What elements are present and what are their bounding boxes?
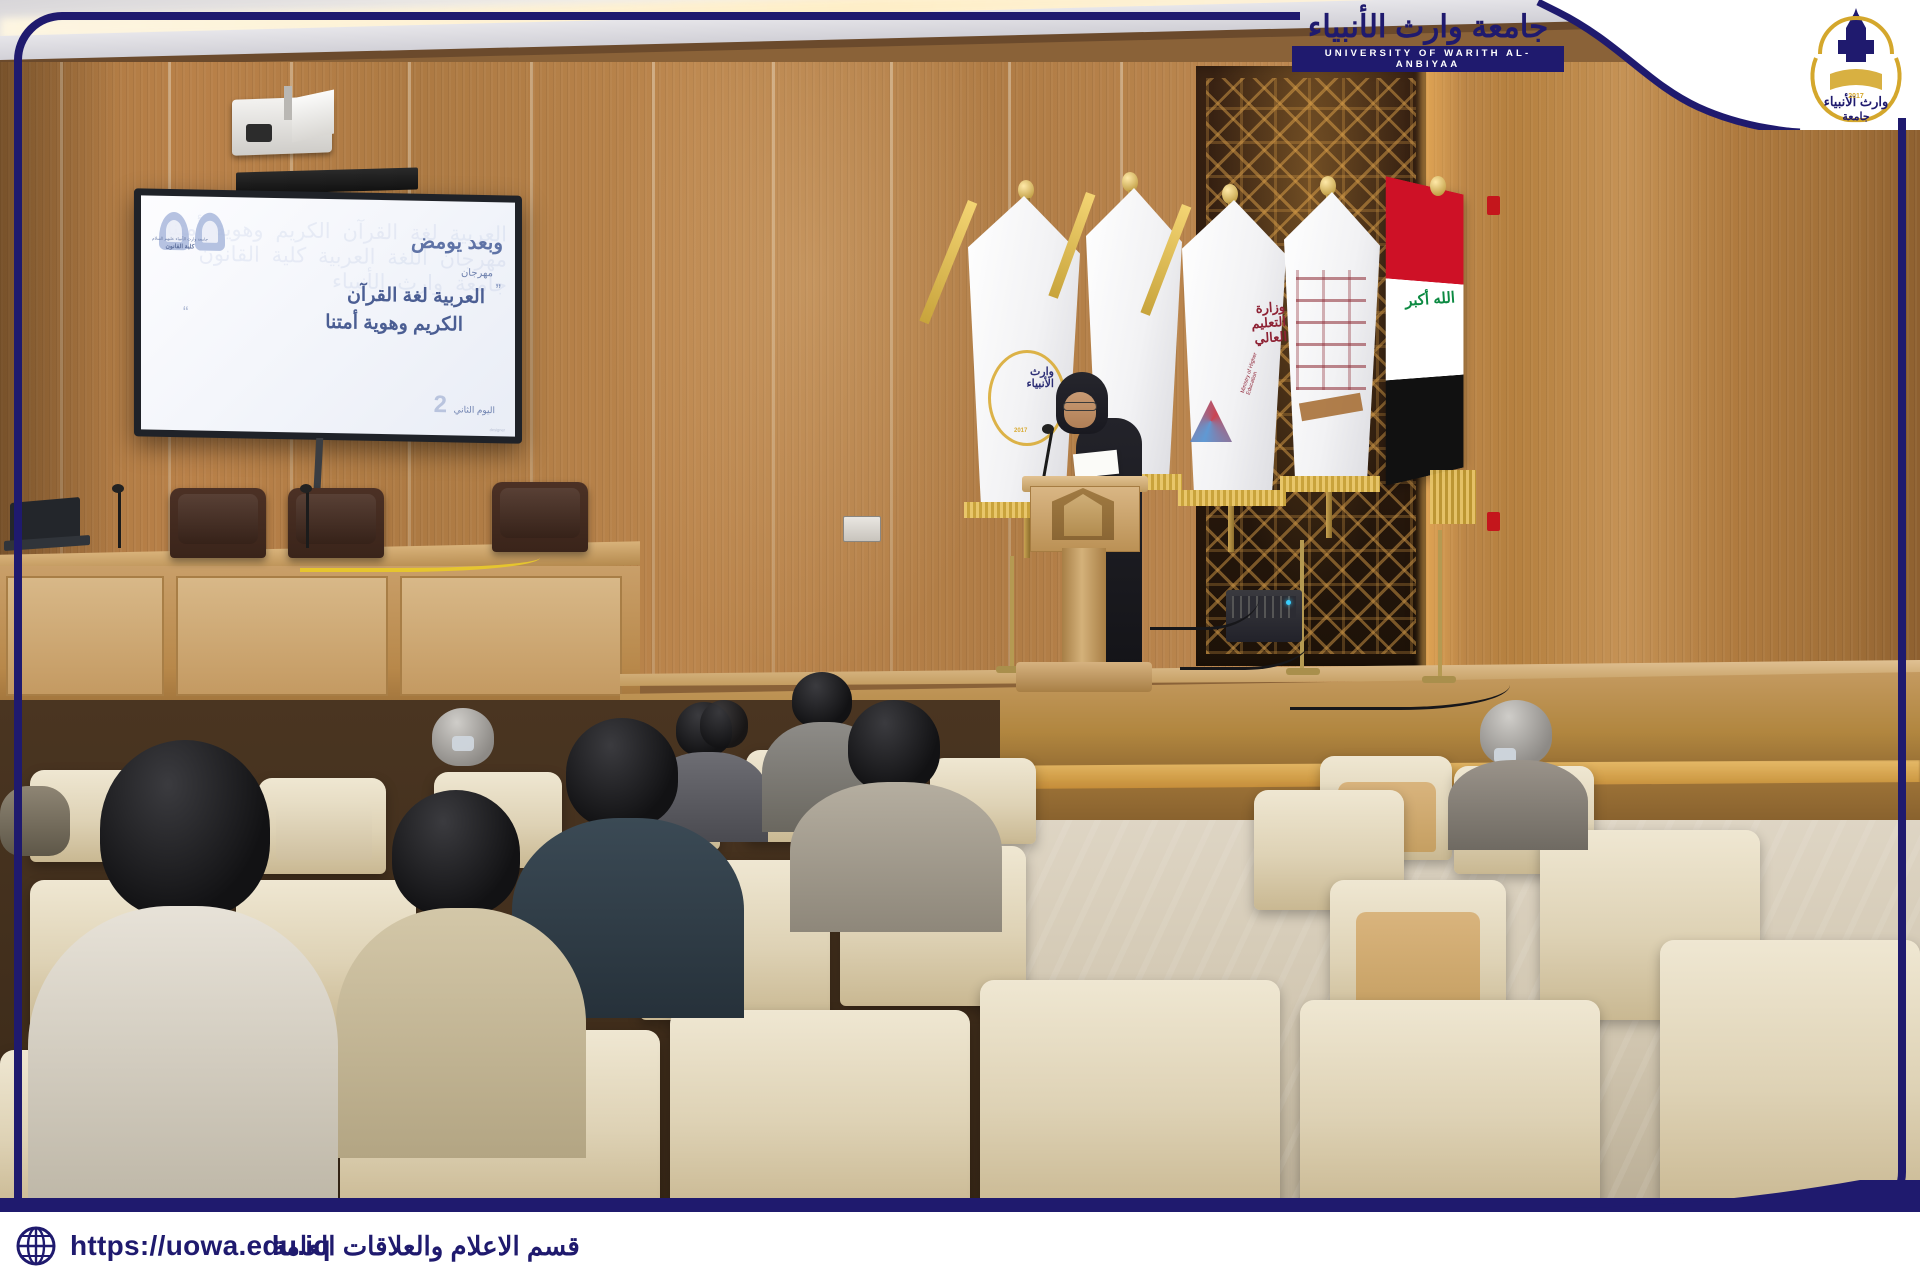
audience-person-head xyxy=(0,786,70,856)
slide-day-number: 2 xyxy=(434,391,447,419)
auditorium-seat xyxy=(670,1010,970,1212)
audio-mixer-led-icon xyxy=(1286,600,1291,605)
panel-table-front-panel xyxy=(6,576,164,696)
audience-person-head xyxy=(392,790,520,916)
audience-person-head xyxy=(566,718,678,828)
flag-finial xyxy=(1122,172,1138,192)
footer-bar: https://uowa.edu.iq قسم الاعلام والعلاقا… xyxy=(0,1212,1920,1280)
screenshot-root: العربية لغة القرآن الكريم وهوية أمتنا مه… xyxy=(0,0,1920,1280)
slide-quote-close: “ xyxy=(183,304,188,322)
panel-table-front-panel xyxy=(400,576,622,696)
audience-person-head xyxy=(700,700,748,748)
projector-mount-plate xyxy=(292,90,334,143)
event-photograph: العربية لغة القرآن الكريم وهوية أمتنا مه… xyxy=(0,0,1920,1212)
flag-fringe xyxy=(1178,490,1286,506)
cable xyxy=(1290,660,1510,710)
presentation-slide: العربية لغة القرآن الكريم وهوية أمتنا مه… xyxy=(141,195,515,436)
auditorium-seat xyxy=(1300,1000,1600,1212)
fire-alarm-icon xyxy=(1487,512,1500,531)
podium-base xyxy=(1016,662,1152,692)
eyeglasses-icon xyxy=(1063,402,1097,411)
auditorium-seat xyxy=(1660,940,1920,1212)
auditorium-seat xyxy=(980,980,1280,1212)
panel-chair xyxy=(170,488,266,558)
flag-fringe xyxy=(1430,470,1476,524)
flag-finial xyxy=(1222,184,1238,204)
audience-person-head xyxy=(792,672,852,728)
panel-chair xyxy=(492,482,588,552)
flag-stand-pole xyxy=(1010,556,1014,668)
table-microphone xyxy=(118,492,121,548)
slide-logo-caption-2: كلية القانون xyxy=(141,242,219,250)
website-url[interactable]: https://uowa.edu.iq xyxy=(70,1230,331,1262)
audience-person-head xyxy=(100,740,270,918)
slide-title-line-2: الكريم وهوية أمتنا xyxy=(325,311,463,337)
wood-slat-wall-right xyxy=(1426,62,1920,682)
podium-microphone-head xyxy=(1042,424,1054,434)
department-name: قسم الاعلام والعلاقات العامة xyxy=(272,1231,580,1262)
audience-person-shoulders xyxy=(790,782,1002,932)
slide-credit: designer xyxy=(490,427,505,432)
podium-stem xyxy=(1062,548,1106,670)
audience-person-shoulders xyxy=(28,906,338,1212)
flag-cloth xyxy=(1182,200,1286,504)
face-mask xyxy=(452,736,474,751)
table-microphone-head xyxy=(300,484,312,493)
auditorium-seat-back xyxy=(276,800,372,860)
slide-title-line-1: العربية لغة القرآن xyxy=(347,283,485,309)
flag-finial xyxy=(1430,176,1446,196)
globe-icon xyxy=(14,1224,58,1268)
slide-heading: وبعد يومض xyxy=(411,229,503,256)
table-microphone-head xyxy=(112,484,124,493)
audience-person-head xyxy=(1480,700,1552,766)
audience-person-shoulders xyxy=(1448,760,1588,850)
projector-lens-icon xyxy=(246,124,272,142)
slide-quote-open: ” xyxy=(496,282,501,300)
wall-highlight xyxy=(600,62,1020,682)
flag-finial xyxy=(1018,180,1034,200)
flag-finial xyxy=(1320,176,1336,196)
slide-festival-word: مهرجان xyxy=(461,268,493,280)
slide-day-label: اليوم الثاني xyxy=(454,404,495,416)
flag-emblem-text: وزارة التعليم العالي xyxy=(1250,299,1287,346)
wall-power-socket xyxy=(843,516,881,542)
fire-alarm-icon xyxy=(1487,196,1500,215)
flag-fringe xyxy=(1280,476,1380,492)
audience-person-shoulders xyxy=(336,908,586,1158)
interactive-whiteboard: العربية لغة القرآن الكريم وهوية أمتنا مه… xyxy=(134,188,522,443)
table-microphone xyxy=(306,492,309,548)
speech-papers xyxy=(1073,450,1119,478)
flag-stand-pole xyxy=(1438,530,1442,678)
flag-iraq xyxy=(1386,176,1464,485)
projector-mount-arm xyxy=(284,86,292,120)
panel-table-front-panel xyxy=(176,576,388,696)
audience-person-head xyxy=(848,700,940,792)
flag-emblem-graphic xyxy=(1296,270,1366,390)
